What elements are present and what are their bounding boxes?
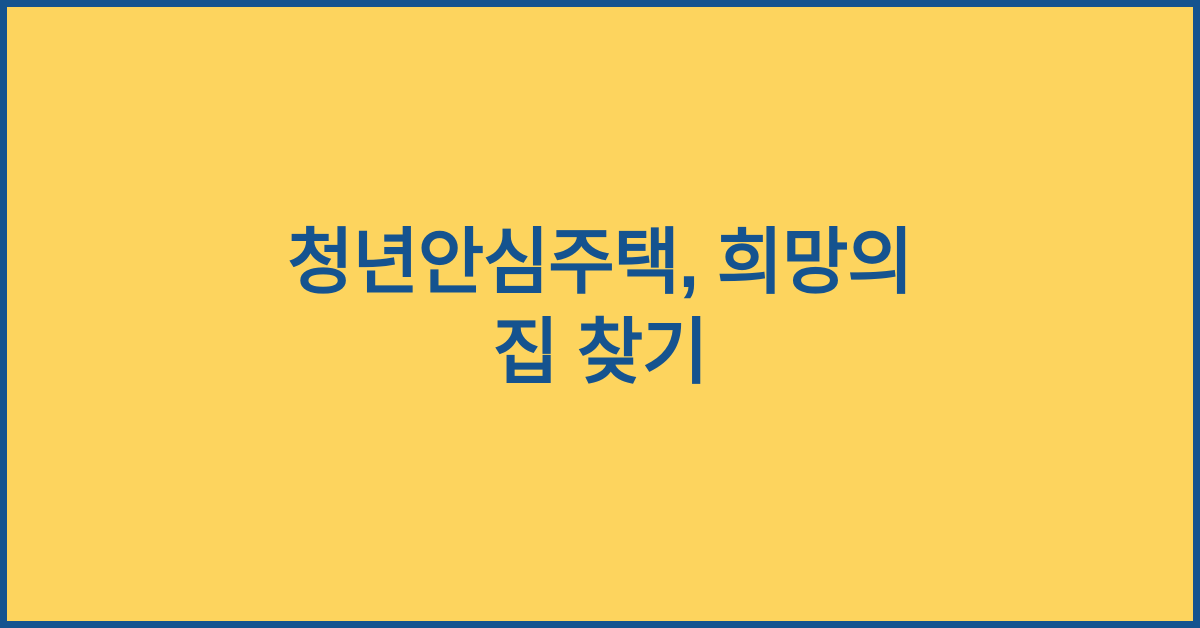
headline-line-2: 집 찾기 [47,308,1153,398]
headline-line-1: 청년안심주택, 희망의 [47,218,1153,308]
thumbnail-card: 청년안심주택, 희망의 집 찾기 [0,0,1200,628]
card-canvas: 청년안심주택, 희망의 집 찾기 [7,7,1193,621]
page-title: 청년안심주택, 희망의 집 찾기 [7,218,1193,398]
